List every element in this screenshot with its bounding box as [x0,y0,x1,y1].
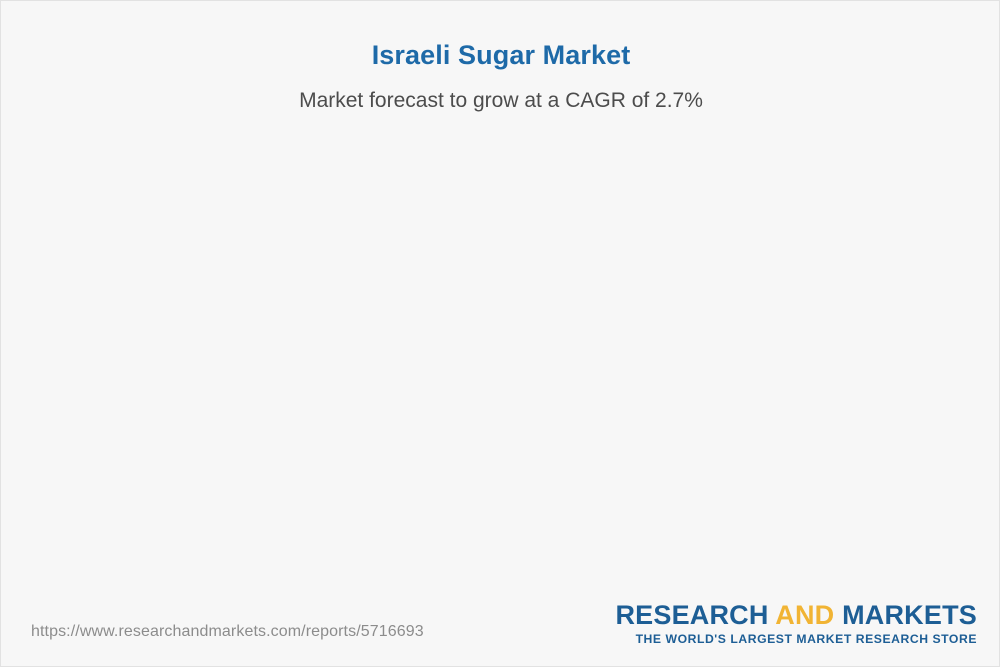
plot-area: USD 85.68 million 2020 USD 103.2 million [1,1,1000,601]
brand-word-and: AND [775,600,834,630]
brand-word-research: RESEARCH [615,600,768,630]
brand-logo: RESEARCH AND MARKETS THE WORLD'S LARGEST… [615,601,977,646]
source-url[interactable]: https://www.researchandmarkets.com/repor… [31,623,424,641]
chart-canvas: Israeli Sugar Market Market forecast to … [0,0,1000,667]
brand-word-markets: MARKETS [842,600,977,630]
brand-tagline: THE WORLD'S LARGEST MARKET RESEARCH STOR… [615,632,977,646]
brand-wordmark: RESEARCH AND MARKETS [615,601,977,629]
